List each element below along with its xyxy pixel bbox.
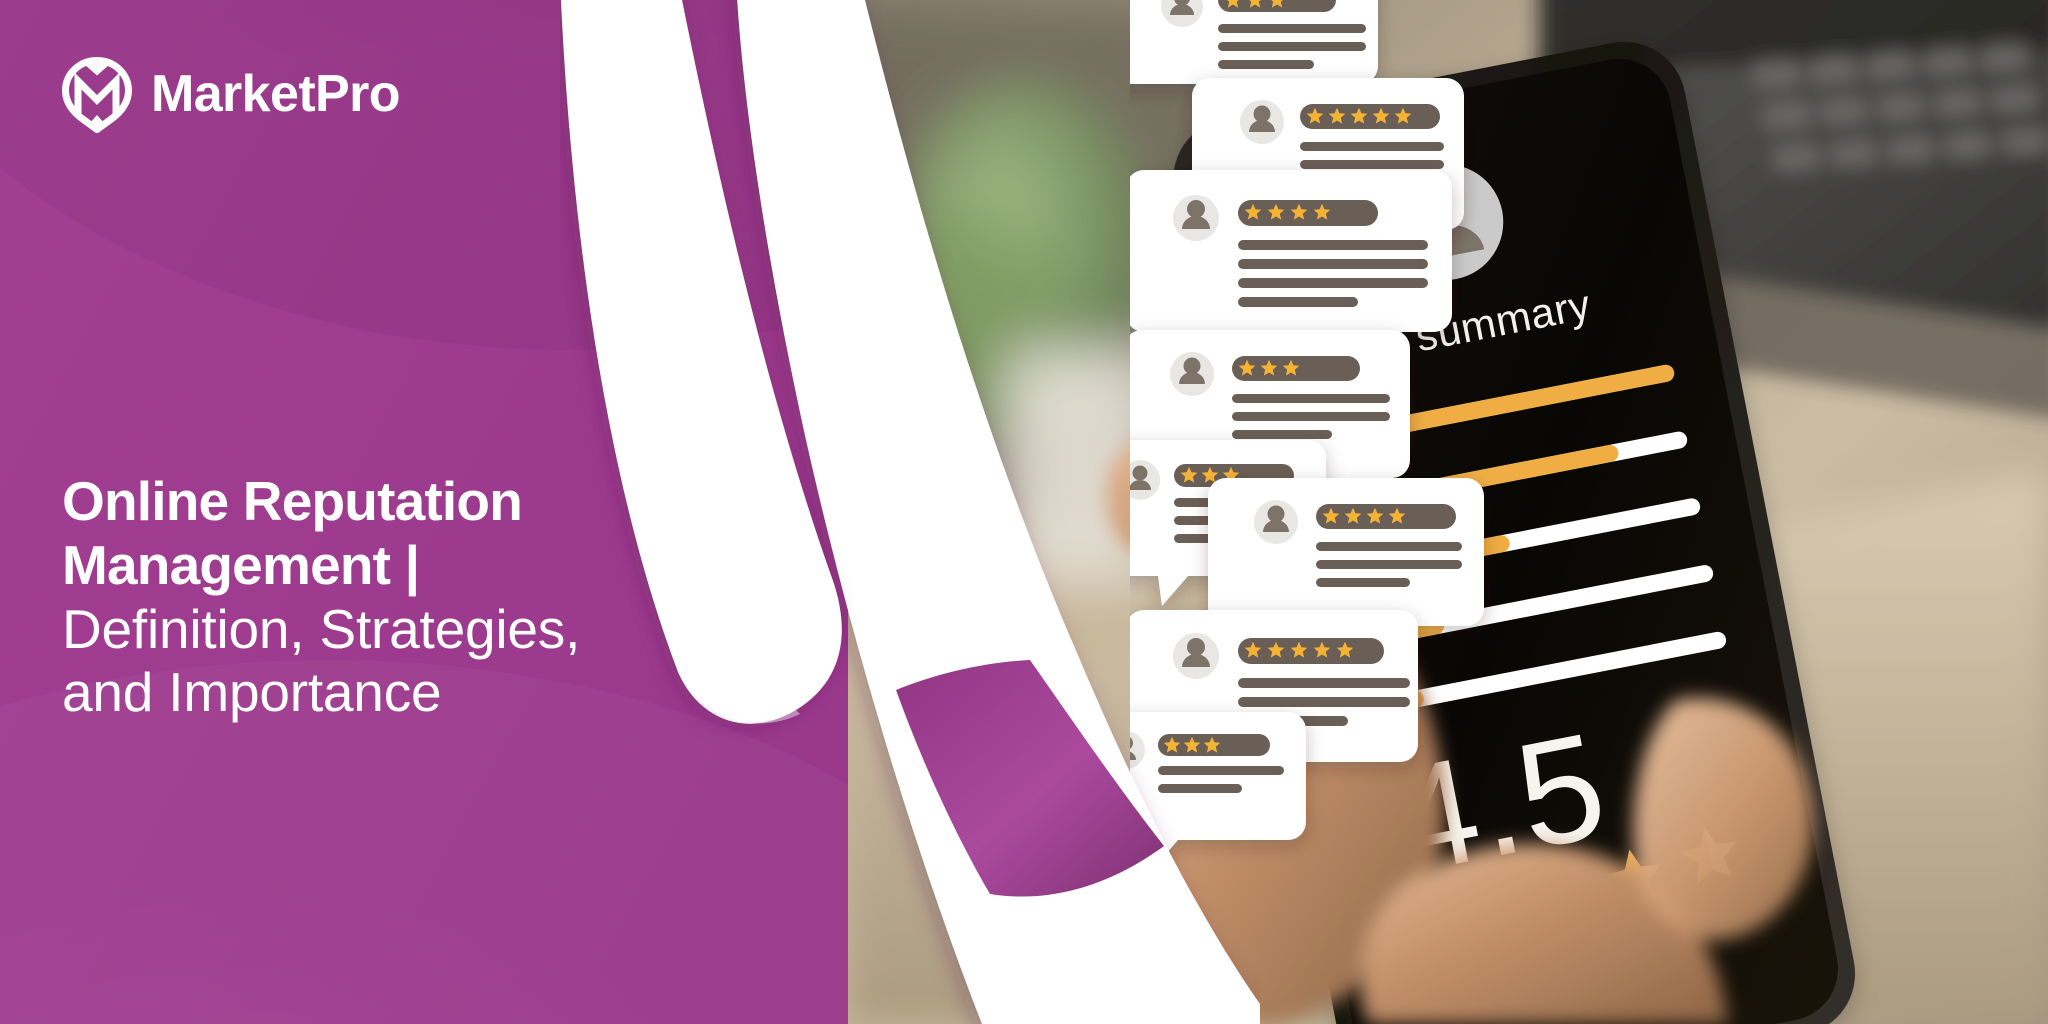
brand-name: MarketPro <box>151 68 400 120</box>
headline-line-2: Management | <box>62 534 702 598</box>
headline-block: Online Reputation Management | Definitio… <box>62 470 702 725</box>
headline-line-3: Definition, Strategies, <box>62 598 702 662</box>
headline-line-4: and Importance <box>62 661 702 725</box>
hero-photo: Review summary 5 4 <box>848 0 2048 1024</box>
brand-logo[interactable]: MarketPro <box>60 54 400 134</box>
marketing-banner: Review summary 5 4 <box>0 0 2048 1024</box>
marketpro-shield-m-logo-icon <box>60 55 134 133</box>
headline-line-1: Online Reputation <box>62 470 702 534</box>
